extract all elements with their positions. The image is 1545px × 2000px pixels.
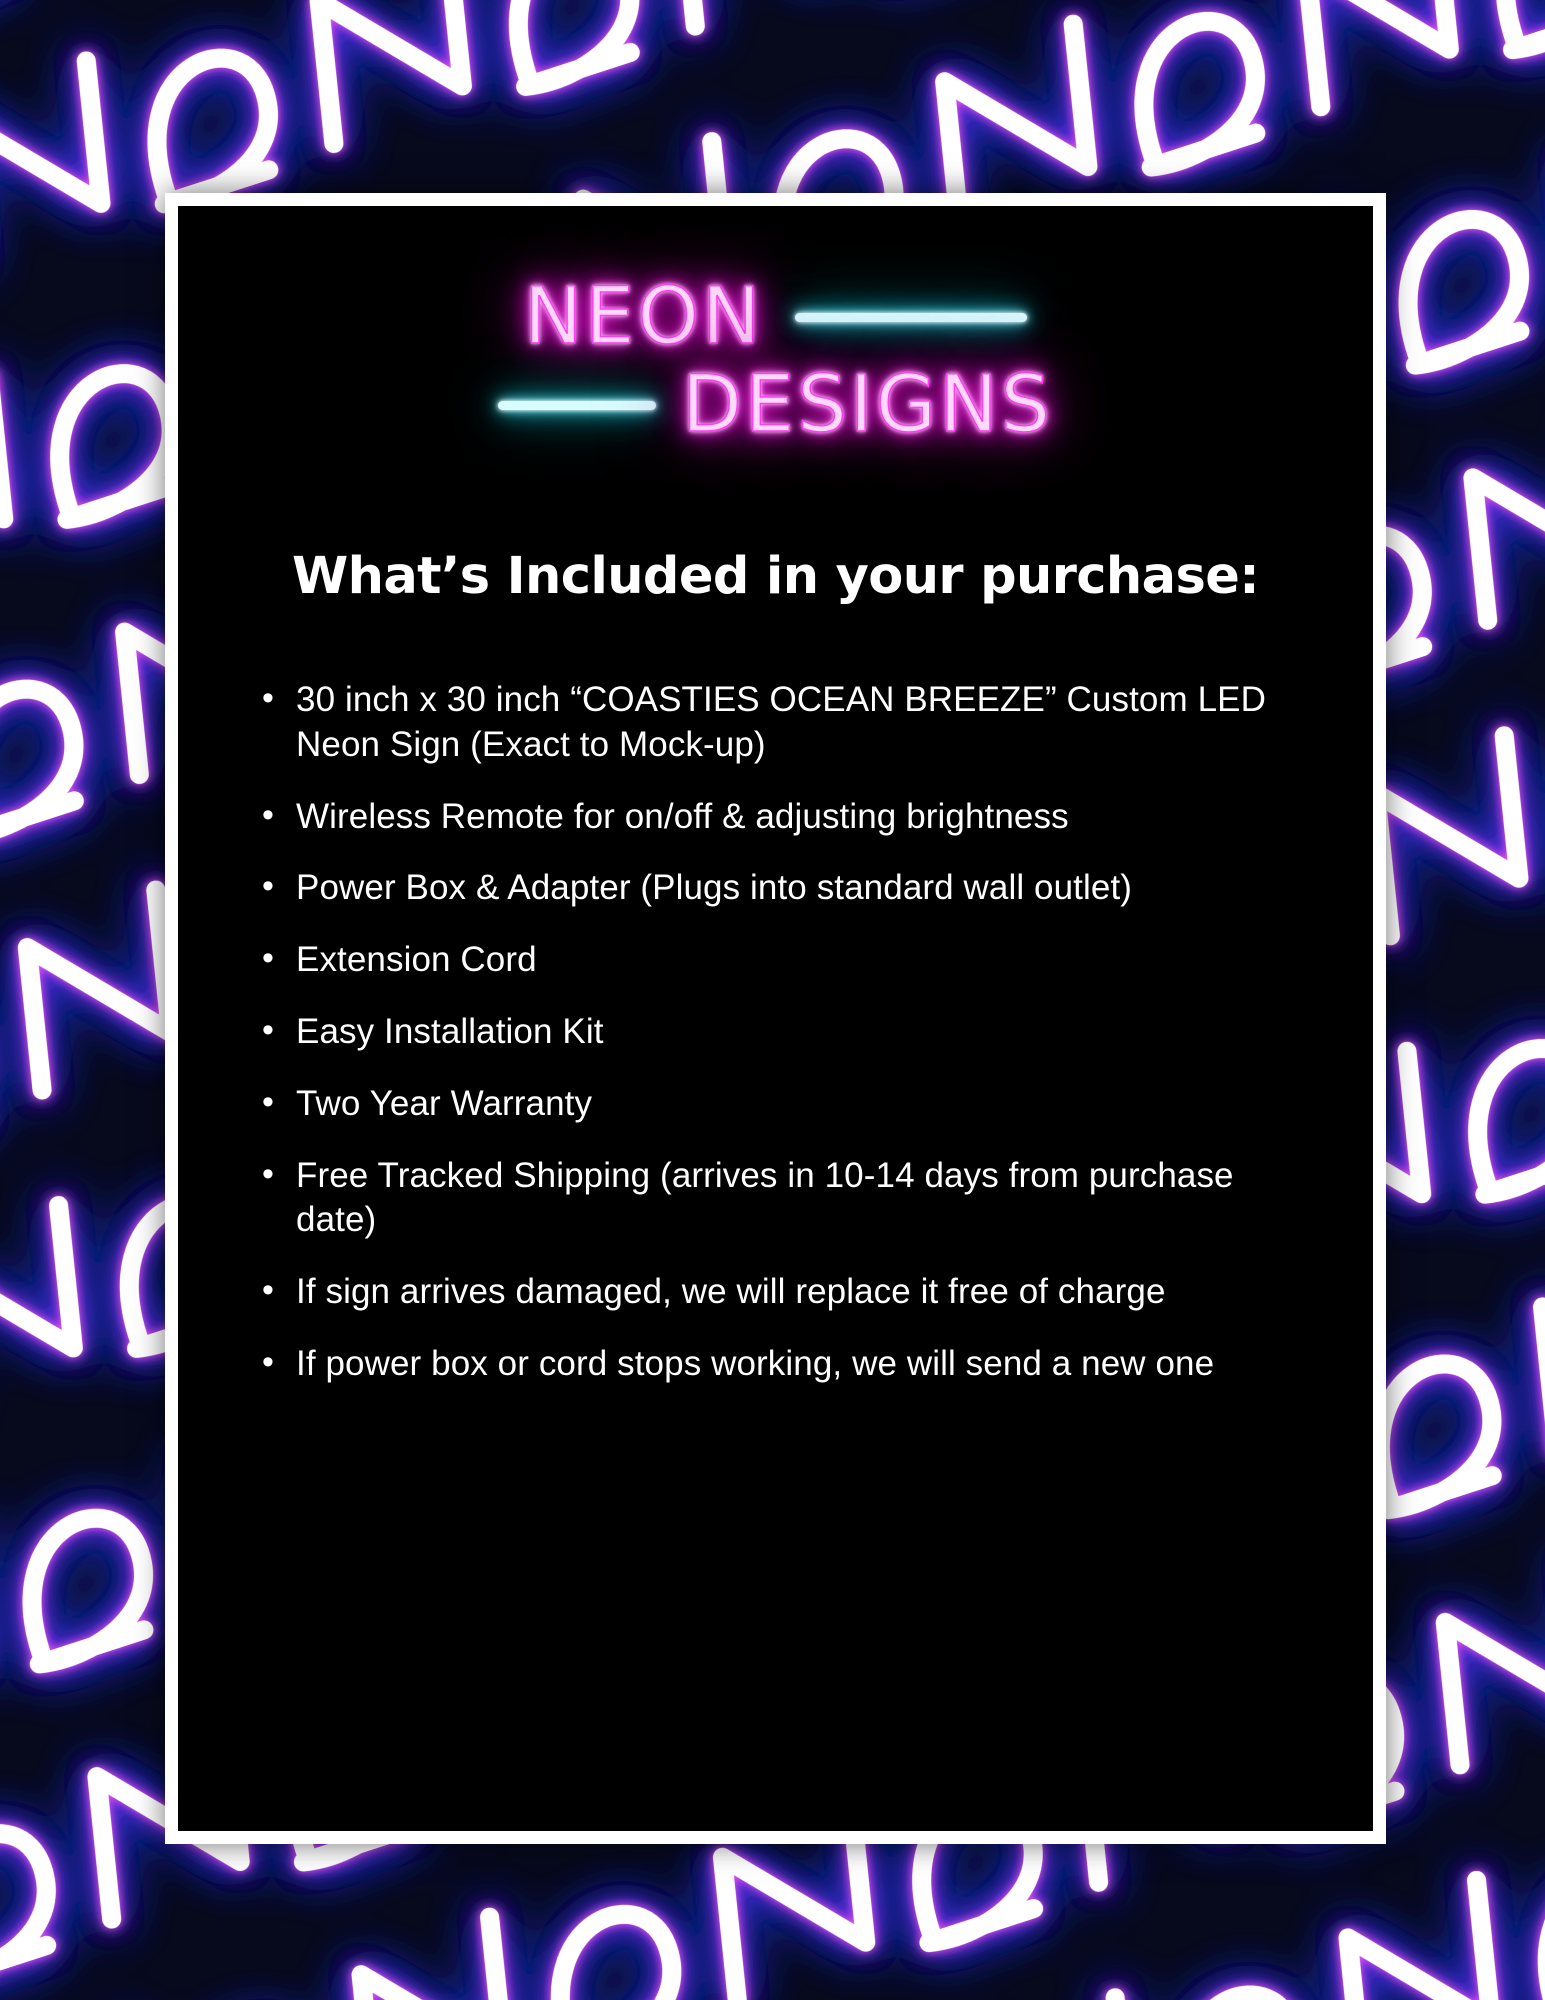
list-item: Free Tracked Shipping (arrives in 10-14 … [258,1154,1287,1244]
list-item: Extension Cord [258,938,1287,983]
list-item: Power Box & Adapter (Plugs into standard… [258,866,1287,911]
list-item: 30 inch x 30 inch “COASTIES OCEAN BREEZE… [258,678,1287,768]
list-item: If sign arrives damaged, we will replace… [258,1270,1287,1315]
content-card: NEON DESIGNS What’s Included in your pur… [178,206,1373,1831]
included-items-list: 30 inch x 30 inch “COASTIES OCEAN BREEZE… [258,678,1287,1387]
list-item: Wireless Remote for on/off & adjusting b… [258,795,1287,840]
teal-neon-bar-top [795,313,1027,322]
logo-word-neon: NEON [524,278,763,356]
list-item: Easy Installation Kit [258,1010,1287,1055]
logo-word-designs: DESIGNS [682,366,1053,444]
logo-row-bottom: DESIGNS [178,366,1373,444]
teal-neon-bar-bottom [498,401,656,410]
list-item: Two Year Warranty [258,1082,1287,1127]
neon-designs-logo: NEON DESIGNS [178,254,1373,499]
page-title: What’s Included in your purchase: [178,547,1373,606]
logo-row-top: NEON [178,278,1373,356]
content-card-frame: NEON DESIGNS What’s Included in your pur… [165,193,1386,1844]
list-item: If power box or cord stops working, we w… [258,1342,1287,1387]
